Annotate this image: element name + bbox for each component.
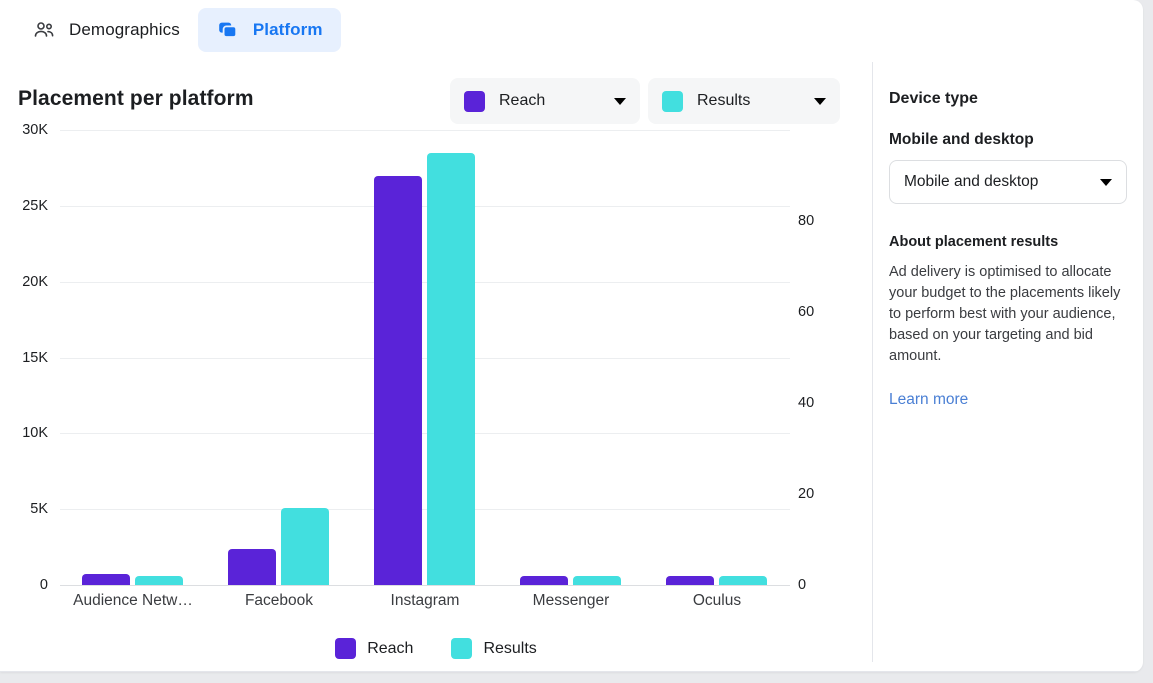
chart-title: Placement per platform [18,87,254,111]
legend-item-reach[interactable]: Reach [335,638,413,659]
device-type-select[interactable]: Mobile and desktop [889,160,1127,204]
bar-reach[interactable] [82,574,130,585]
x-axis-label: Facebook [206,592,352,610]
bar-group [60,130,206,585]
placement-card: Demographics Platform Placement per plat… [0,0,1143,672]
metric-selector-reach[interactable]: Reach [450,78,640,124]
device-type-panel: Device type Mobile and desktop Mobile an… [873,60,1143,672]
y-axis-left-tick: 5K [0,501,48,517]
metric-selector-results[interactable]: Results [648,78,840,124]
card-bottom-edge [0,671,1143,672]
y-axis-left-tick: 30K [0,122,48,138]
legend-item-results[interactable]: Results [451,638,536,659]
y-axis-right-tick: 80 [798,213,814,229]
y-axis-right-tick: 0 [798,577,806,593]
chart-header: Placement per platform Reach Results [18,78,854,126]
chevron-down-icon [614,98,626,105]
chart-legend: Reach Results [0,638,872,659]
metric-selector-results-label: Results [697,92,800,110]
learn-more-link[interactable]: Learn more [889,391,1127,409]
y-axis-right-tick: 60 [798,304,814,320]
legend-swatch-reach [335,638,356,659]
y-axis-right-tick: 40 [798,395,814,411]
bar-results[interactable] [135,576,183,585]
bar-results[interactable] [427,153,475,585]
y-axis-left-tick: 20K [0,274,48,290]
layers-icon [216,18,240,42]
device-type-subheading: Mobile and desktop [889,131,1127,149]
bar-group [498,130,644,585]
tab-bar: Demographics Platform [0,0,1143,60]
bar-group [352,130,498,585]
chart-panel: Placement per platform Reach Results 05K… [0,60,872,672]
people-icon [32,18,56,42]
bar-chart-plot: 05K10K15K20K25K30K 020406080 Audience Ne… [0,130,872,630]
reach-color-swatch [464,91,485,112]
bars-layer [60,130,790,585]
results-color-swatch [662,91,683,112]
y-axis-right-tick: 20 [798,486,814,502]
x-axis-label: Oculus [644,592,790,610]
legend-swatch-results [451,638,472,659]
bar-reach[interactable] [374,176,422,586]
bar-results[interactable] [281,508,329,585]
bar-results[interactable] [719,576,767,585]
bar-group [206,130,352,585]
legend-label-results: Results [483,640,536,658]
legend-label-reach: Reach [367,640,413,658]
x-axis-label: Instagram [352,592,498,610]
x-axis-baseline [60,585,790,586]
tab-platform-label: Platform [253,20,323,40]
tab-demographics[interactable]: Demographics [14,8,198,52]
y-axis-left-tick: 10K [0,425,48,441]
about-placement-heading: About placement results [889,234,1127,250]
metric-selector-reach-label: Reach [499,92,600,110]
chevron-down-icon [814,98,826,105]
bar-group [644,130,790,585]
x-axis-label: Messenger [498,592,644,610]
tab-demographics-label: Demographics [69,20,180,40]
device-type-select-value: Mobile and desktop [904,173,1100,191]
y-axis-left-tick: 0 [0,577,48,593]
about-placement-body: Ad delivery is optimised to allocate you… [889,262,1127,367]
bar-reach[interactable] [520,576,568,585]
x-axis-label: Audience Netw… [60,592,206,610]
chevron-down-icon [1100,179,1112,186]
bar-reach[interactable] [666,576,714,585]
y-axis-left-tick: 15K [0,350,48,366]
device-type-heading: Device type [889,90,1127,108]
bar-results[interactable] [573,576,621,585]
tab-platform[interactable]: Platform [198,8,341,52]
y-axis-left-tick: 25K [0,198,48,214]
bar-reach[interactable] [228,549,276,585]
